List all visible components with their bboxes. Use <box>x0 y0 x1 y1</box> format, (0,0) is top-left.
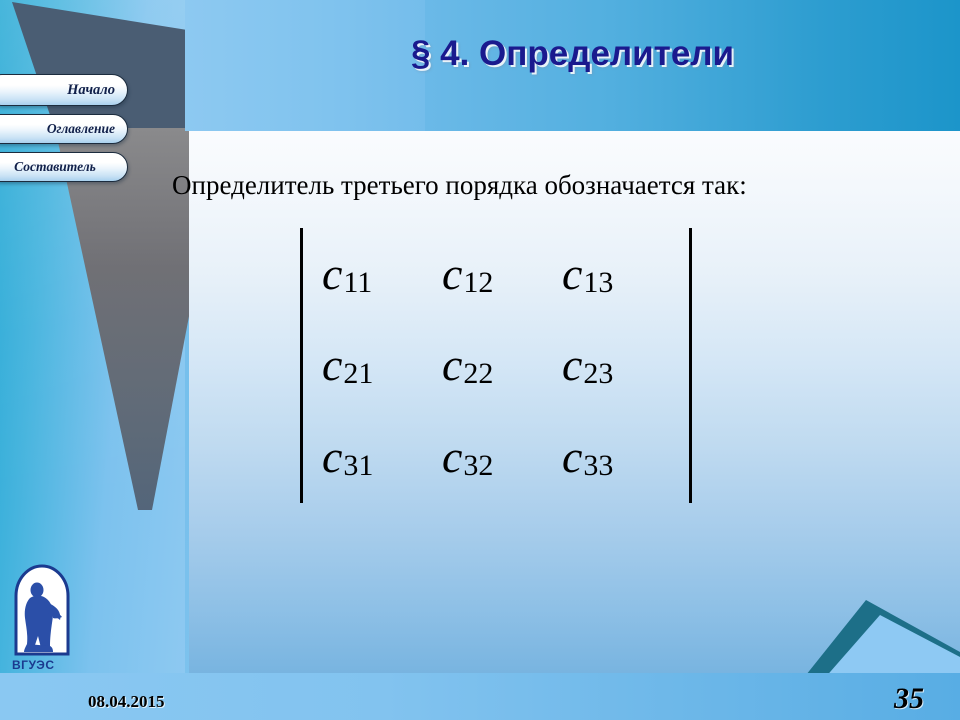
matrix-base: c <box>562 251 582 297</box>
matrix-subscript: 21 <box>343 359 373 389</box>
matrix-base: c <box>442 434 462 480</box>
matrix-base: c <box>322 251 342 297</box>
presentation-slide: § 4. Определители Определитель третьего … <box>0 0 960 720</box>
determinant-right-bar <box>689 228 692 503</box>
logo-label: ВГУЭС <box>12 658 54 672</box>
sidebar-item-label: Начало <box>67 82 115 99</box>
matrix-cell-2-2: c22 <box>436 320 556 412</box>
determinant-left-bar <box>300 228 303 503</box>
matrix-cell-1-3: c13 <box>556 228 676 320</box>
matrix-subscript: 11 <box>343 268 372 298</box>
matrix-cell-1-2: c12 <box>436 228 556 320</box>
matrix-cell-1-1: c11 <box>316 228 436 320</box>
matrix-cell-3-3: c33 <box>556 411 676 503</box>
sidebar-item-label: Составитель <box>14 159 96 175</box>
matrix-cell-2-3: c23 <box>556 320 676 412</box>
matrix-base: c <box>322 434 342 480</box>
vgues-logo: ВГУЭС <box>8 562 80 680</box>
matrix-cell-3-2: c32 <box>436 411 556 503</box>
matrix-base: c <box>322 342 342 388</box>
matrix-base: c <box>562 434 582 480</box>
page-number: 35 <box>894 682 924 716</box>
matrix-subscript: 31 <box>343 451 373 481</box>
matrix-base: c <box>442 342 462 388</box>
matrix-base: c <box>562 342 582 388</box>
page-title: § 4. Определители <box>185 34 960 74</box>
sidebar-navigation: Начало Оглавление Составитель <box>0 74 136 190</box>
matrix-subscript: 33 <box>583 451 613 481</box>
sidebar-item-label: Оглавление <box>47 121 115 137</box>
sidebar-item-oglavlenie[interactable]: Оглавление <box>0 114 128 144</box>
matrix-subscript: 12 <box>463 268 493 298</box>
footer-date: 08.04.2015 <box>88 692 165 712</box>
matrix-subscript: 23 <box>583 359 613 389</box>
matrix-subscript: 13 <box>583 268 613 298</box>
sidebar-item-nachalo[interactable]: Начало <box>0 74 128 106</box>
matrix-cell-2-1: c21 <box>316 320 436 412</box>
sidebar-item-sostavitel[interactable]: Составитель <box>0 152 128 182</box>
matrix-subscript: 32 <box>463 451 493 481</box>
matrix-subscript: 22 <box>463 359 493 389</box>
matrix-base: c <box>442 251 462 297</box>
matrix-cell-3-1: c31 <box>316 411 436 503</box>
determinant-matrix: c11 c12 c13 c21 c22 c23 c31 c32 c33 <box>300 228 692 503</box>
determinant-grid: c11 c12 c13 c21 c22 c23 c31 c32 c33 <box>316 228 676 503</box>
body-text: Определитель третьего порядка обозначает… <box>172 170 912 201</box>
